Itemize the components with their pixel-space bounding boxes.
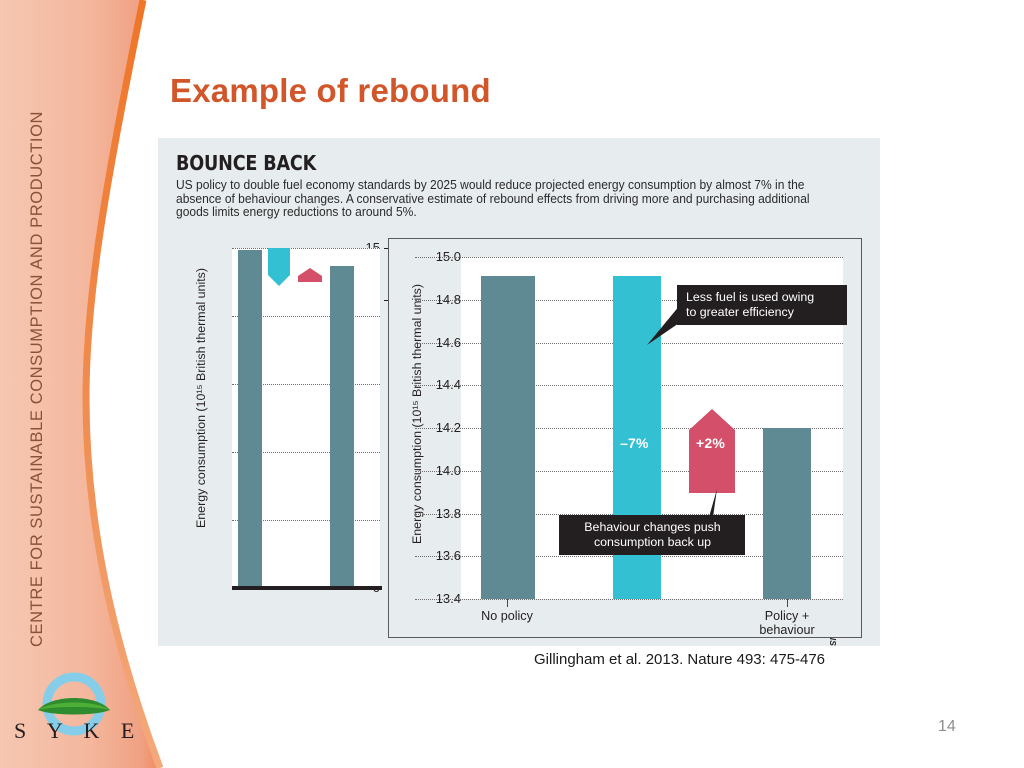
mini-chart-y-axis-label: Energy consumption (10¹⁵ British thermal… bbox=[194, 253, 214, 543]
mini-decrease-arrow-icon bbox=[268, 248, 290, 286]
slide-sidebar: CENTRE FOR SUSTAINABLE CONSUMPTION AND P… bbox=[0, 0, 175, 768]
main-gridline-13_4 bbox=[415, 599, 843, 600]
figure-header: BOUNCE BACK US policy to double fuel eco… bbox=[176, 151, 836, 220]
main-bar-no-policy bbox=[481, 276, 535, 599]
figure-title: BOUNCE BACK bbox=[176, 151, 757, 175]
mini-bar-policy-behaviour bbox=[330, 266, 354, 586]
syke-logo-icon bbox=[14, 664, 134, 760]
mini-context-chart: Energy consumption (10¹⁵ British thermal… bbox=[180, 238, 380, 638]
main-xtick-label-no-policy: No policy bbox=[481, 609, 533, 623]
efficiency-callout-line2: to greater efficiency bbox=[686, 305, 839, 320]
mini-axis-baseline bbox=[232, 586, 382, 590]
increase-arrow-icon bbox=[689, 409, 735, 493]
increase-percentage-label: +2% bbox=[696, 435, 725, 451]
behaviour-callout: Behaviour changes push consumption back … bbox=[559, 515, 745, 555]
main-xtick-label-policy-behaviour: Policy + behaviour bbox=[750, 609, 824, 637]
main-gridline-15_0 bbox=[415, 257, 843, 258]
mini-bar-no-policy bbox=[238, 250, 262, 586]
efficiency-callout: Less fuel is used owing to greater effic… bbox=[677, 285, 847, 325]
mini-increase-arrow-icon bbox=[298, 268, 322, 282]
behaviour-callout-line2: consumption back up bbox=[568, 535, 737, 550]
behaviour-callout-line1: Behaviour changes push bbox=[568, 520, 737, 535]
page-number: 14 bbox=[938, 718, 956, 736]
figure-panel: BOUNCE BACK US policy to double fuel eco… bbox=[158, 138, 880, 646]
sidebar-organisation-label: CENTRE FOR SUSTAINABLE CONSUMPTION AND P… bbox=[17, 7, 57, 647]
page-title: Example of rebound bbox=[170, 72, 491, 110]
source-citation: Gillingham et al. 2013. Nature 493: 475-… bbox=[534, 651, 825, 668]
decrease-percentage-label: –7% bbox=[620, 435, 649, 451]
decrease-arrow-icon bbox=[613, 454, 661, 492]
main-bar-policy-behaviour bbox=[763, 428, 811, 599]
main-xtick-mark-1 bbox=[507, 599, 508, 607]
syke-wordmark: S Y K E bbox=[14, 718, 142, 744]
main-xtick-mark-2 bbox=[787, 599, 788, 607]
efficiency-callout-line1: Less fuel is used owing bbox=[686, 290, 839, 305]
figure-subtitle: US policy to double fuel economy standar… bbox=[176, 179, 835, 220]
mini-gridline-15 bbox=[232, 248, 380, 249]
main-zoom-chart: Energy consumption (10¹⁵ British thermal… bbox=[388, 238, 862, 638]
